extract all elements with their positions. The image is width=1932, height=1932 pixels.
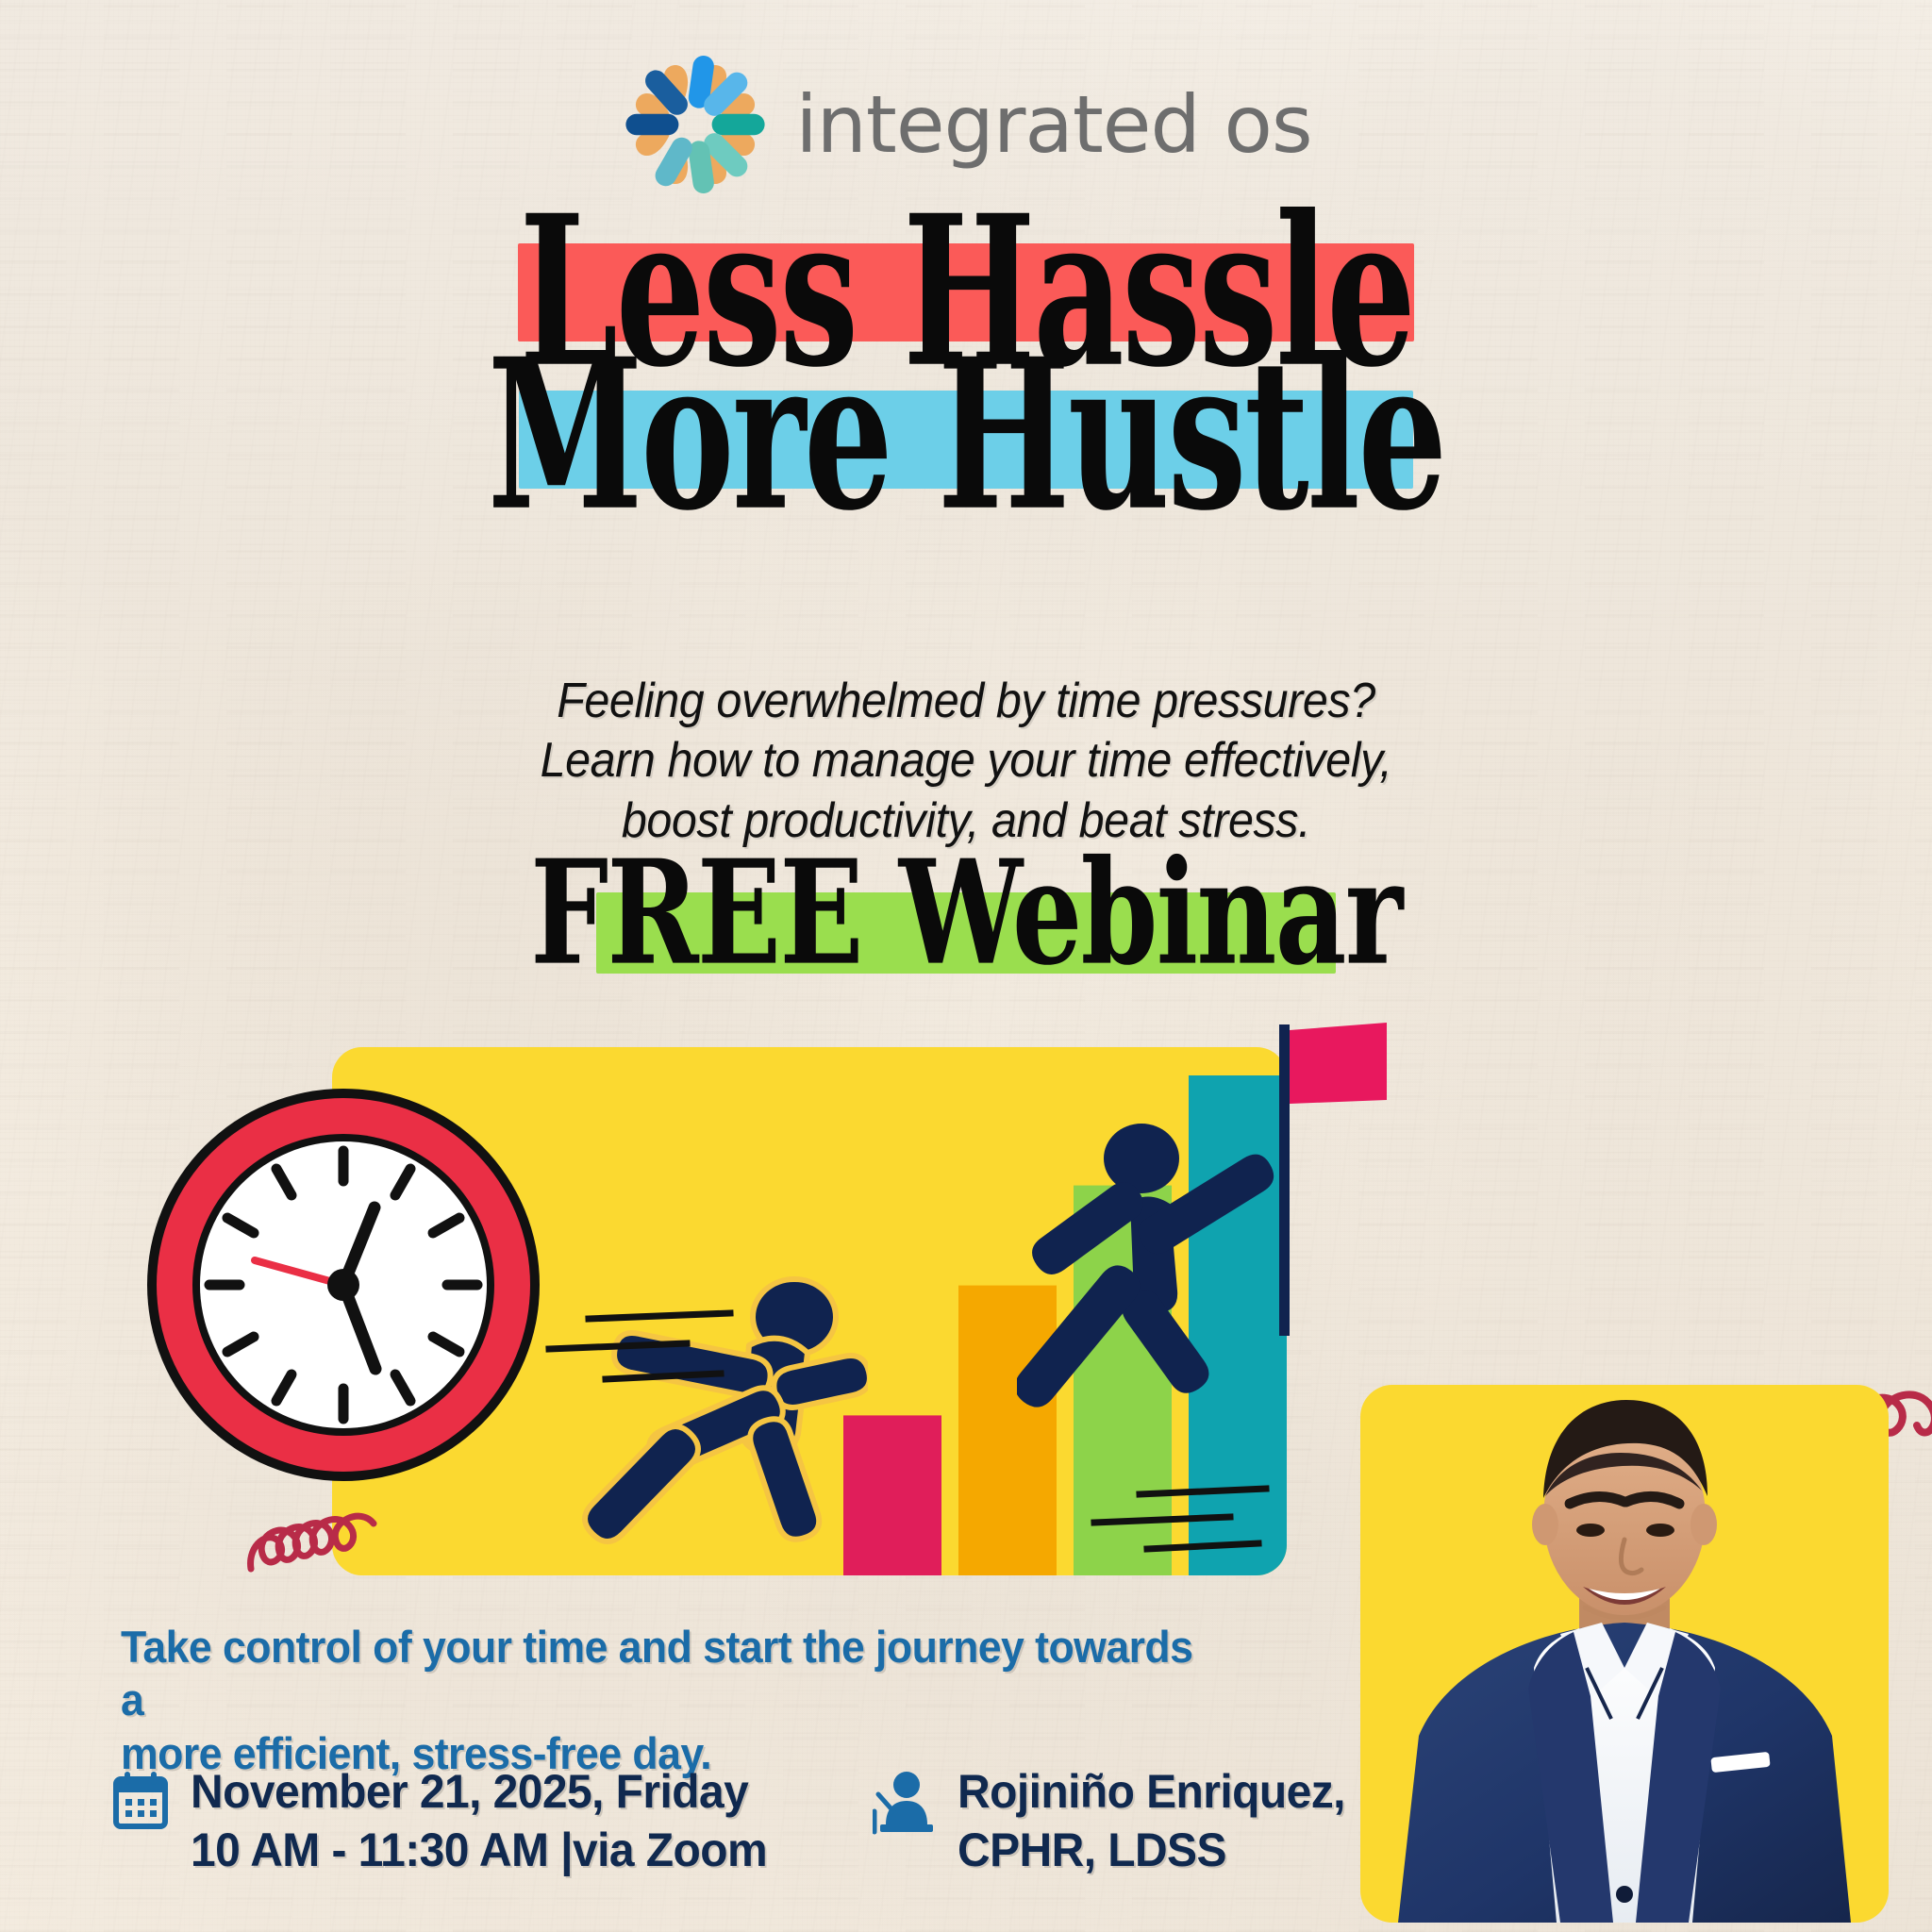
clock-center-cap [327, 1269, 359, 1301]
calendar-icon [111, 1770, 170, 1837]
subtitle-line-2: Learn how to manage your time effectivel… [68, 731, 1865, 791]
flag-pole [1279, 1024, 1290, 1336]
speaker-headshot [1360, 1385, 1889, 1923]
schedule-date: November 21, 2025, Friday [191, 1762, 767, 1821]
brand-name: integrated os [795, 85, 1311, 164]
schedule-time: 10 AM - 11:30 AM |via Zoom [191, 1821, 767, 1879]
cta-text: Take control of your time and start the … [121, 1621, 1196, 1780]
speaker-credentials: CPHR, LDSS [958, 1821, 1345, 1879]
speaker-block: Rojiniño Enriquez, CPHR, LDSS [873, 1762, 1361, 1879]
speed-lines-icon [545, 1300, 800, 1526]
schedule-block: November 21, 2025, Friday 10 AM - 11:30 … [111, 1762, 791, 1879]
subtitle: Feeling overwhelmed by time pressures? L… [68, 672, 1865, 851]
free-webinar-label: FREE Webinar [530, 841, 1401, 985]
speaker-text: Rojiniño Enriquez, CPHR, LDSS [958, 1762, 1345, 1879]
goal-flag-icon [1290, 1023, 1387, 1104]
spiral-squiggle-icon-left [245, 1486, 377, 1576]
headline: Less Hassle More Hustle [0, 204, 1932, 491]
speaker-podium-icon [873, 1770, 937, 1840]
cta-line-1: Take control of your time and start the … [121, 1621, 1196, 1727]
schedule-text: November 21, 2025, Friday 10 AM - 11:30 … [191, 1762, 767, 1879]
subtitle-line-1: Feeling overwhelmed by time pressures? [68, 672, 1865, 731]
free-webinar-banner: FREE Webinar [0, 849, 1932, 981]
event-details: November 21, 2025, Friday 10 AM - 11:30 … [111, 1762, 1338, 1879]
poster-canvas: integrated os Less Hassle More Hustle Fe… [0, 0, 1932, 1932]
climbing-person-icon [1017, 1124, 1274, 1407]
speed-lines-icon-secondary [1089, 1481, 1296, 1566]
speaker-photo-card [1360, 1385, 1889, 1923]
headline-line-2-text: More Hustle [488, 331, 1445, 538]
wall-clock-icon [140, 1081, 547, 1489]
speaker-name: Rojiniño Enriquez, [958, 1762, 1345, 1821]
headline-line-2: More Hustle [0, 347, 1932, 491]
